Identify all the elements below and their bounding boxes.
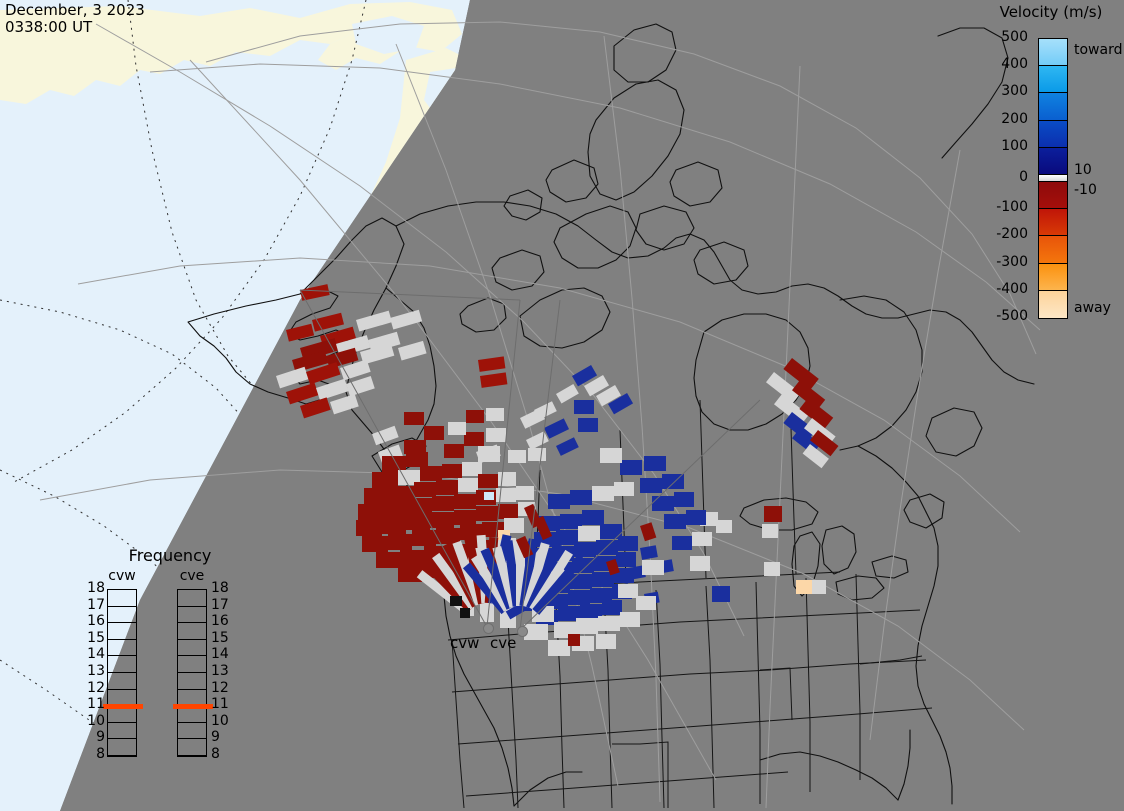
site-marker-cvw bbox=[483, 623, 494, 634]
frequency-column-label-cvw: cvw bbox=[99, 568, 145, 584]
data-cells-northwest bbox=[276, 284, 427, 463]
frequency-tick-left: 16 bbox=[85, 613, 105, 629]
frequency-tick-right: 13 bbox=[211, 663, 229, 679]
frequency-segment bbox=[178, 656, 206, 673]
frequency-marker bbox=[103, 704, 143, 709]
frequency-bar-cvw bbox=[107, 589, 137, 757]
velocity-legend-title: Velocity (m/s) bbox=[986, 3, 1116, 21]
site-label-cve: cve bbox=[490, 634, 516, 652]
frequency-segment bbox=[178, 590, 206, 607]
velocity-band bbox=[1039, 121, 1067, 148]
frequency-tick-left: 10 bbox=[85, 713, 105, 729]
velocity-tick: -100 bbox=[996, 199, 1028, 215]
frequency-tick-right: 17 bbox=[211, 597, 229, 613]
radar-map-screen: December, 3 2023 0338:00 UT cvw cve Velo… bbox=[0, 0, 1124, 811]
frequency-tick-right: 11 bbox=[211, 696, 229, 712]
velocity-tick: 300 bbox=[1001, 83, 1028, 99]
frequency-segment bbox=[108, 590, 136, 607]
frequency-tick-right: 16 bbox=[211, 613, 229, 629]
velocity-band bbox=[1039, 93, 1067, 120]
velocity-band bbox=[1039, 39, 1067, 66]
frequency-tick-right: 8 bbox=[211, 746, 220, 762]
frequency-segment bbox=[178, 739, 206, 756]
frequency-tick-right: 10 bbox=[211, 713, 229, 729]
frequency-bar-cve bbox=[177, 589, 207, 757]
frequency-marker bbox=[173, 704, 213, 709]
frequency-segment bbox=[108, 739, 136, 756]
frequency-tick-right: 14 bbox=[211, 646, 229, 662]
velocity-band bbox=[1039, 291, 1067, 318]
frequency-legend: Frequency cvw cve 1818171716161515141413… bbox=[85, 546, 255, 786]
frequency-tick-left: 17 bbox=[85, 597, 105, 613]
frequency-segment bbox=[178, 640, 206, 657]
velocity-band bbox=[1039, 148, 1067, 175]
velocity-band bbox=[1039, 264, 1067, 291]
velocity-tick: -200 bbox=[996, 226, 1028, 242]
velocity-band bbox=[1039, 182, 1067, 209]
velocity-tick: -400 bbox=[996, 281, 1028, 297]
frequency-tick-left: 12 bbox=[85, 680, 105, 696]
frequency-segment bbox=[108, 656, 136, 673]
velocity-band bbox=[1039, 209, 1067, 236]
timestamp-time: 0338:00 UT bbox=[5, 18, 92, 36]
velocity-legend: Velocity (m/s) 5004003002001000-100-200-… bbox=[978, 0, 1124, 330]
velocity-tick: 400 bbox=[1001, 56, 1028, 72]
frequency-tick-right: 18 bbox=[211, 580, 229, 596]
velocity-tick: -300 bbox=[996, 254, 1028, 270]
velocity-band bbox=[1039, 66, 1067, 93]
frequency-tick-left: 15 bbox=[85, 630, 105, 646]
velocity-tick: -500 bbox=[996, 308, 1028, 324]
velocity-colorbar bbox=[1038, 38, 1068, 319]
frequency-tick-left: 13 bbox=[85, 663, 105, 679]
frequency-tick-right: 15 bbox=[211, 630, 229, 646]
frequency-segment bbox=[108, 673, 136, 690]
frequency-segment bbox=[178, 673, 206, 690]
site-marker-cve bbox=[517, 626, 528, 637]
data-cells-midwest bbox=[612, 506, 826, 605]
site-label-cvw: cvw bbox=[450, 634, 479, 652]
frequency-legend-title: Frequency bbox=[85, 546, 255, 565]
velocity-inner-upper-label: 10 bbox=[1074, 162, 1092, 178]
frequency-tick-right: 9 bbox=[211, 729, 220, 745]
velocity-tick: 100 bbox=[1001, 138, 1028, 154]
data-cells-east bbox=[766, 358, 838, 468]
frequency-tick-left: 18 bbox=[85, 580, 105, 596]
frequency-tick-left: 11 bbox=[85, 696, 105, 712]
frequency-tick-left: 9 bbox=[85, 729, 105, 745]
timestamp-date: December, 3 2023 bbox=[5, 1, 145, 19]
frequency-tick-left: 8 bbox=[85, 746, 105, 762]
velocity-inner-lower-label: -10 bbox=[1074, 182, 1097, 198]
frequency-segment bbox=[178, 623, 206, 640]
velocity-tick: 200 bbox=[1001, 111, 1028, 127]
timestamp: December, 3 2023 0338:00 UT bbox=[5, 2, 145, 36]
velocity-away-label: away bbox=[1074, 300, 1111, 316]
frequency-segment bbox=[178, 607, 206, 624]
velocity-band bbox=[1039, 175, 1067, 182]
frequency-segment bbox=[178, 723, 206, 740]
velocity-band bbox=[1039, 236, 1067, 263]
velocity-tick: 500 bbox=[1001, 29, 1028, 45]
frequency-segment bbox=[108, 623, 136, 640]
frequency-segment bbox=[108, 723, 136, 740]
frequency-tick-right: 12 bbox=[211, 680, 229, 696]
frequency-column-label-cve: cve bbox=[169, 568, 215, 584]
frequency-tick-left: 14 bbox=[85, 646, 105, 662]
frequency-segment bbox=[108, 640, 136, 657]
velocity-tick: 0 bbox=[1019, 169, 1028, 185]
frequency-segment bbox=[108, 607, 136, 624]
velocity-toward-label: toward bbox=[1074, 42, 1122, 58]
